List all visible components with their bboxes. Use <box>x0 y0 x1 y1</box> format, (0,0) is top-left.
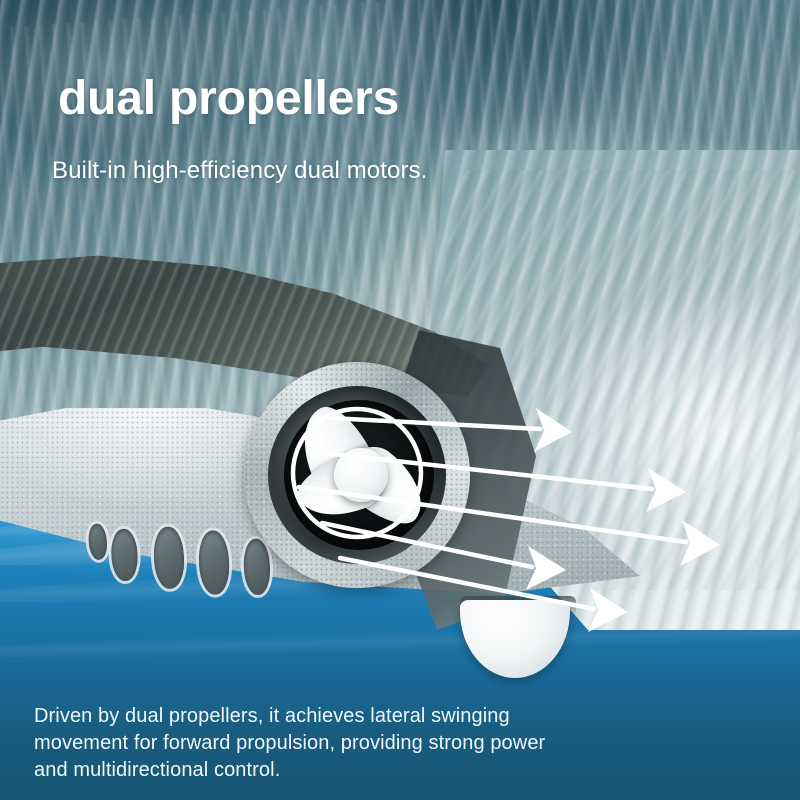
product-feature-banner: dual propellers Built-in high-efficiency… <box>0 0 800 800</box>
page-subtitle: Built-in high-efficiency dual motors. <box>52 157 427 185</box>
caption-line: movement for forward propulsion, providi… <box>34 730 674 757</box>
feature-description: Driven by dual propellers, it achieves l… <box>34 703 674 784</box>
lower-fin-rudder <box>460 600 570 678</box>
caption-line: Driven by dual propellers, it achieves l… <box>34 703 674 730</box>
propeller <box>284 398 438 552</box>
page-title: dual propellers <box>58 74 399 124</box>
gill-hole <box>110 528 140 582</box>
gill-hole <box>242 538 272 596</box>
propeller-hub <box>334 448 388 502</box>
gill-hole <box>87 523 109 561</box>
gill-hole <box>197 530 231 596</box>
caption-line: and multidirectional control. <box>34 757 674 784</box>
gill-hole <box>152 526 186 590</box>
